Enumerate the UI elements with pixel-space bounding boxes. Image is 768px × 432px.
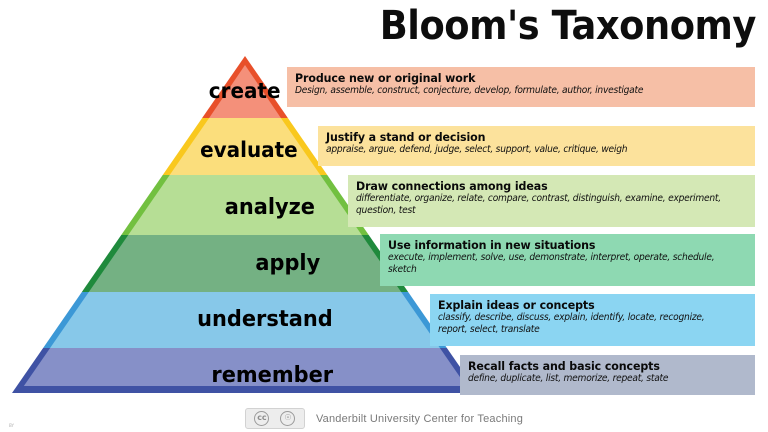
credit-text: Vanderbilt University Center for Teachin…: [316, 413, 523, 425]
level-word-understand: understand: [197, 309, 333, 331]
cc-by-license-icon[interactable]: cc ☉ BY: [245, 408, 305, 429]
footer: cc ☉ BY Vanderbilt University Center for…: [0, 408, 768, 429]
callout-understand: Explain ideas or concepts classify, desc…: [430, 294, 755, 346]
callout-heading: Use information in new situations: [388, 238, 734, 252]
callout-verbs: differentiate, organize, relate, compare…: [356, 193, 728, 218]
callout-analyze: Draw connections among ideas differentia…: [348, 175, 755, 227]
page-title: Bloom's Taxonomy: [380, 2, 756, 50]
callout-verbs: appraise, argue, defend, judge, select, …: [326, 144, 727, 156]
callout-remember: Recall facts and basic concepts define, …: [460, 355, 755, 395]
bloom-taxonomy-infographic: Bloom's Taxonomy create evaluate analyze…: [0, 0, 768, 432]
level-word-create: create: [208, 81, 280, 102]
level-word-remember: remember: [211, 365, 333, 387]
callout-verbs: define, duplicate, list, memorize, repea…: [468, 373, 734, 385]
level-word-analyze: analyze: [225, 197, 315, 219]
callout-heading: Justify a stand or decision: [326, 130, 731, 144]
pyramid-band-edge-apply: [82, 235, 408, 292]
pyramid-band-apply: [89, 235, 401, 292]
callout-heading: Explain ideas or concepts: [438, 298, 736, 312]
callout-evaluate: Justify a stand or decision appraise, ar…: [318, 126, 755, 166]
level-word-evaluate: evaluate: [200, 140, 298, 161]
callout-heading: Produce new or original work: [295, 71, 730, 85]
callout-create: Produce new or original work Design, ass…: [287, 67, 755, 107]
level-word-apply: apply: [255, 253, 320, 275]
callout-verbs: execute, implement, solve, use, demonstr…: [388, 252, 730, 277]
callout-verbs: classify, describe, discuss, explain, id…: [438, 312, 733, 337]
callout-heading: Draw connections among ideas: [356, 179, 732, 193]
cc-by-label: BY: [9, 423, 14, 428]
callout-verbs: Design, assemble, construct, conjecture,…: [295, 85, 725, 97]
by-person-icon: ☉: [280, 411, 295, 426]
callout-heading: Recall facts and basic concepts: [468, 359, 737, 373]
cc-mark-icon: cc: [254, 411, 269, 426]
callout-apply: Use information in new situations execut…: [380, 234, 755, 286]
